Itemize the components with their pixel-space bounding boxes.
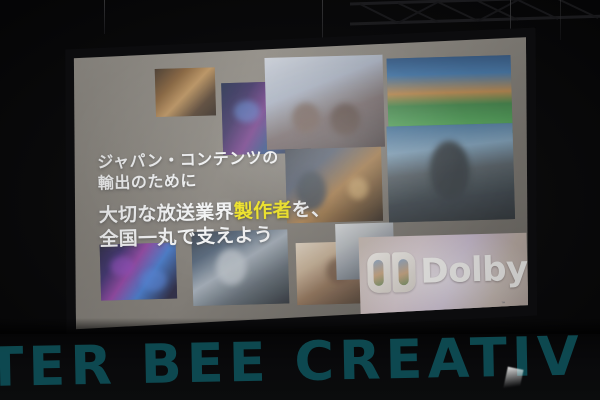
slide-text-block: ジャパン・コンテンツの 輸出のために 大切な放送業界製作者を、 全国一丸で支えよ… (97, 146, 331, 252)
banner-text: TER BEE CREATIV (0, 334, 584, 399)
projection-screen: Dolby ™ ジャパン・コンテンツの 輸出のために 大切な放送業界製作者を、 … (58, 27, 544, 340)
dolby-logo: Dolby (367, 249, 528, 293)
subhead-text-after: を、 (291, 198, 330, 221)
subhead-highlight: 製作者 (234, 199, 292, 223)
dolby-wordmark: Dolby (420, 252, 528, 289)
subhead-text-before: 大切な放送業界 (98, 200, 234, 226)
suspension-cable (560, 0, 561, 40)
presentation-scene: Dolby ™ ジャパン・コンテンツの 輸出のために 大切な放送業界製作者を、 … (0, 0, 600, 400)
two-people-blanket-photo (264, 55, 385, 150)
venue-banner: TER BEE CREATIV (0, 334, 600, 400)
double-d-symbol-icon (367, 252, 416, 293)
man-watching-tv-photo (386, 123, 515, 222)
warm-room-photo (155, 67, 216, 117)
suspension-cable (104, 0, 105, 34)
screen-surface: Dolby ™ ジャパン・コンテンツの 輸出のために 大切な放送業界製作者を、 … (68, 37, 534, 331)
